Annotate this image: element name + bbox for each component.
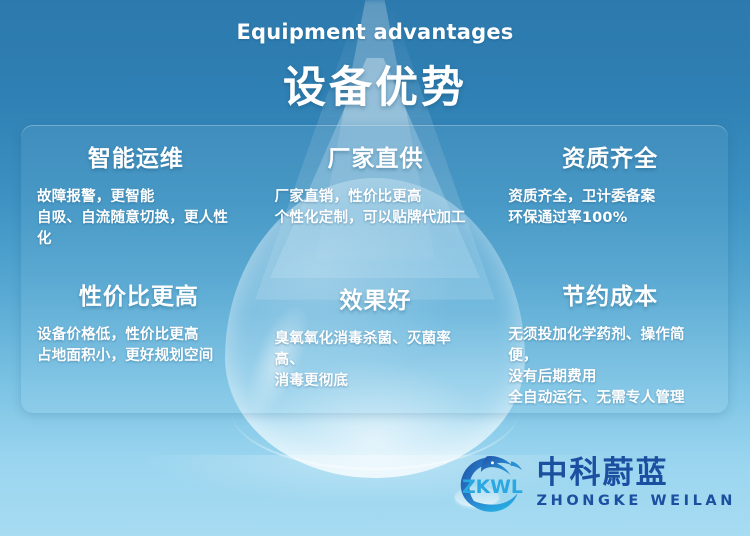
advantage-card-5-title: 效果好	[275, 281, 477, 315]
page-title: 设备优势	[0, 53, 750, 115]
advantage-card-3-line-2: 环保通过率100%	[508, 208, 712, 229]
advantage-card-6-line-3: 全自动运行、无需专人管理	[508, 388, 712, 409]
advantage-card-4: 性价比更高 设备价格低，性价比更高 占地面积小，更好规划空间	[21, 263, 257, 413]
advantage-card-6-line-1: 无须投加化学药剂、操作简便，	[508, 325, 712, 367]
logo-text-block: 中科蔚蓝 ZHONGKE WEILAN	[537, 458, 737, 509]
advantage-card-3-line-1: 资质齐全，卫计委备案	[508, 187, 712, 208]
advantage-card-6-line-2: 没有后期费用	[508, 367, 712, 388]
advantage-card-4-line-2: 占地面积小，更好规划空间	[37, 346, 241, 367]
advantage-card-1-line-2: 自吸、自流随意切换，更人性化	[37, 208, 241, 250]
advantage-card-6: 节约成本 无须投加化学药剂、操作简便， 没有后期费用 全自动运行、无需专人管理	[492, 263, 728, 413]
advantage-card-2: 厂家直供 厂家直销，性价比更高 个性化定制，可以贴牌代加工	[257, 125, 493, 263]
advantage-card-2-line-1: 厂家直销，性价比更高	[275, 187, 477, 208]
advantage-card-3: 资质齐全 资质齐全，卫计委备案 环保通过率100%	[492, 125, 728, 263]
advantage-card-6-title: 节约成本	[508, 277, 712, 311]
advantage-card-1-title: 智能运维	[31, 139, 241, 173]
advantage-card-1-line-1: 故障报警，更智能	[37, 187, 241, 208]
advantage-card-2-line-2: 个性化定制，可以贴牌代加工	[275, 208, 477, 229]
logo-chinese-name: 中科蔚蓝	[537, 458, 737, 489]
company-logo: ZKWL 中科蔚蓝 ZHONGKE WEILAN	[455, 452, 737, 514]
page-header: Equipment advantages 设备优势	[0, 0, 750, 115]
emblem-mark-text: ZKWL	[462, 477, 523, 498]
header-english-title: Equipment advantages	[0, 20, 750, 44]
logo-pinyin-name: ZHONGKE WEILAN	[537, 494, 737, 509]
advantage-card-4-title: 性价比更高	[37, 277, 241, 311]
advantage-card-5-line-2: 消毒更彻底	[275, 371, 477, 392]
advantages-panel: 智能运维 故障报警，更智能 自吸、自流随意切换，更人性化 厂家直供 厂家直销，性…	[21, 125, 728, 413]
dolphin-wave-emblem-icon: ZKWL	[455, 452, 527, 514]
advantage-card-1: 智能运维 故障报警，更智能 自吸、自流随意切换，更人性化	[21, 125, 257, 263]
advantage-card-4-line-1: 设备价格低，性价比更高	[37, 325, 241, 346]
advantage-card-3-title: 资质齐全	[508, 139, 712, 173]
advantage-card-5-line-1: 臭氧氧化消毒杀菌、灭菌率高、	[275, 329, 477, 371]
advantage-card-2-title: 厂家直供	[275, 139, 477, 173]
advantage-card-5: 效果好 臭氧氧化消毒杀菌、灭菌率高、 消毒更彻底	[257, 263, 493, 413]
